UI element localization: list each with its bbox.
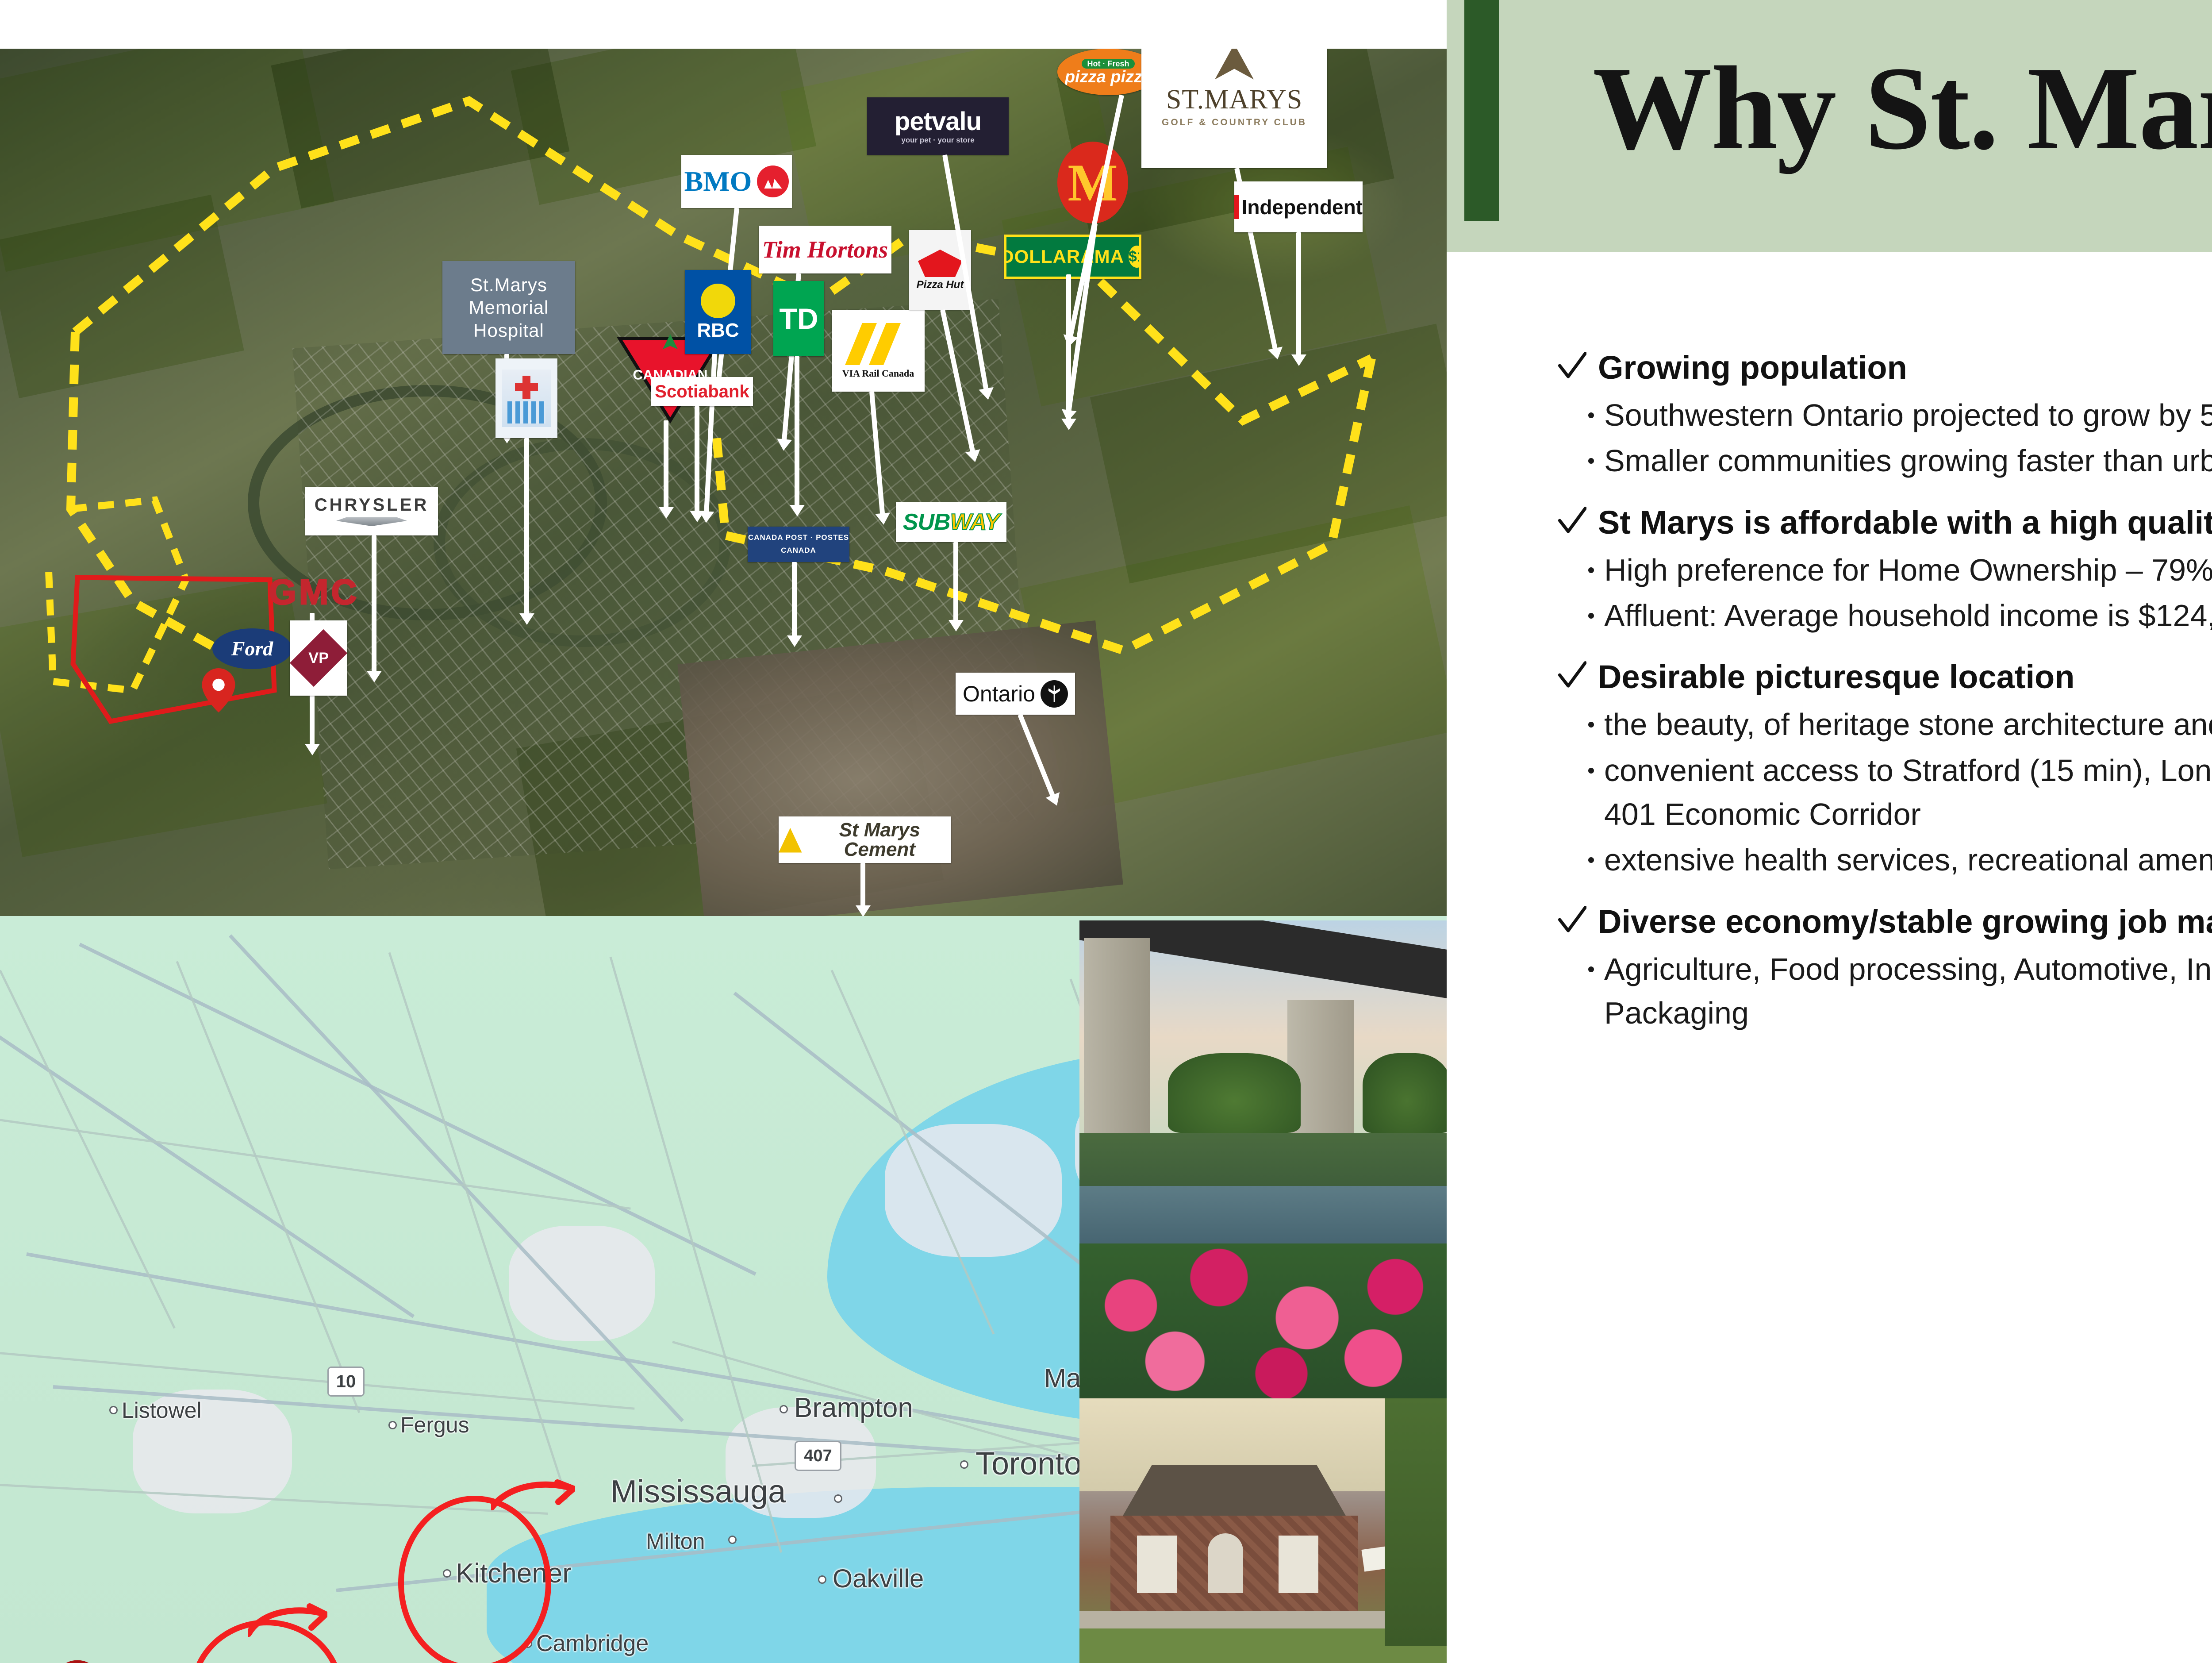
photo-strip xyxy=(1079,920,1447,1663)
section-bullets: the beauty, of heritage stone architectu… xyxy=(1583,703,2212,882)
gmc-wordmark: GMC xyxy=(269,574,360,610)
title-accent-bar xyxy=(1464,0,1499,221)
section-heading: St Marys is affordable with a high quali… xyxy=(1557,504,2212,541)
section-heading-text: Growing population xyxy=(1598,350,1907,386)
list-item: Smaller communities growing faster than … xyxy=(1583,439,2212,483)
list-item: convenient access to Stratford (15 min),… xyxy=(1583,749,2212,837)
list-item: the beauty, of heritage stone architectu… xyxy=(1583,703,2212,747)
via-rail-wordmark: VIA Rail Canada xyxy=(842,369,914,378)
presentation-slide: St.Marys Memorial Hospital CANADIAN TIRE xyxy=(0,0,2212,1663)
section-heading: Growing population xyxy=(1557,350,2212,386)
logo-subway: SUBWAY xyxy=(896,502,1006,542)
section-heading-text: Diverse economy/stable growing job marke… xyxy=(1598,904,2212,940)
logo-td: TD xyxy=(773,281,824,356)
page-title: Why St. Marys? xyxy=(1593,40,2212,177)
logo-hospital-icon xyxy=(495,358,557,438)
place-label-listowel: Listowel xyxy=(122,1397,202,1423)
photo-thames-river-with-flowers xyxy=(1079,1133,1447,1398)
bullet-content: Growing population Southwestern Ontario … xyxy=(1557,350,2212,1056)
section-heading: Desirable picturesque location xyxy=(1557,659,2212,696)
list-item: High preference for Home Ownership – 79%… xyxy=(1583,548,2212,592)
section-heading-text: St Marys is affordable with a high quali… xyxy=(1598,504,2212,541)
logo-tim-hortons: Tim Hortons xyxy=(759,226,891,273)
canada-post-wordmark: CANADA POST · POSTES CANADA xyxy=(748,531,849,557)
logo-bmo: BMO xyxy=(681,155,792,208)
logo-canada-post: CANADA POST · POSTES CANADA xyxy=(748,527,849,562)
logo-chrysler: CHRYSLER xyxy=(305,487,438,535)
parcel-location-pin xyxy=(201,668,236,715)
highlight-arrow-kitchener xyxy=(491,1479,575,1528)
photo-stone-railway-trestle-bridge xyxy=(1079,920,1447,1133)
logo-independent-grocer: Independent xyxy=(1234,181,1363,232)
left-imagery-column: St.Marys Memorial Hospital CANADIAN TIRE xyxy=(0,0,1447,1663)
checkmark-icon xyxy=(1557,350,1586,383)
place-label-brampton: Brampton xyxy=(794,1392,913,1424)
tim-hortons-wordmark: Tim Hortons xyxy=(762,238,888,262)
logo-via-rail: VIA Rail Canada xyxy=(832,310,925,392)
place-label-milton: Milton xyxy=(646,1528,705,1554)
logo-scotiabank: Scotiabank xyxy=(651,377,753,406)
list-item: Southwestern Ontario projected to grow b… xyxy=(1583,393,2212,437)
checkmark-icon xyxy=(1557,660,1586,693)
place-label-mississauga: Mississauga xyxy=(611,1474,786,1510)
ford-wordmark: Ford xyxy=(231,639,273,659)
section-growing-population: Growing population Southwestern Ontario … xyxy=(1557,350,2212,483)
section-desirable-location: Desirable picturesque location the beaut… xyxy=(1557,659,2212,882)
section-bullets: Southwestern Ontario projected to grow b… xyxy=(1583,393,2212,483)
scotiabank-wordmark: Scotiabank xyxy=(655,383,749,400)
section-heading-text: Desirable picturesque location xyxy=(1598,659,2074,696)
list-item: extensive health services, recreational … xyxy=(1583,838,2212,882)
logo-gmc: GMC xyxy=(259,571,369,613)
place-label-cambridge: Cambridge xyxy=(536,1630,649,1657)
place-dot-oakville xyxy=(818,1575,826,1584)
dollarama-wordmark: DOLLARAMA xyxy=(1004,247,1124,266)
place-dot-fergus xyxy=(388,1421,397,1429)
section-diverse-economy: Diverse economy/stable growing job marke… xyxy=(1557,904,2212,1036)
pizza-pizza-tagline: Hot · Fresh xyxy=(1082,59,1134,69)
pet-valu-wordmark: petvalu xyxy=(895,109,981,135)
pizza-pizza-wordmark: pizza pizza xyxy=(1065,69,1152,85)
logo-st-marys-memorial-hospital: St.Marys Memorial Hospital xyxy=(442,261,575,354)
place-dot-brampton xyxy=(780,1405,788,1413)
golf-club-wordmark: ST.MARYS xyxy=(1166,86,1302,113)
ontario-wordmark: Ontario xyxy=(963,683,1035,705)
list-item: Affluent: Average household income is $1… xyxy=(1583,594,2212,638)
logo-rbc: RBC xyxy=(685,270,751,354)
td-wordmark: TD xyxy=(780,304,818,333)
highway-shield-10: 10 xyxy=(327,1367,365,1397)
pizza-hut-wordmark: Pizza Hut xyxy=(917,280,964,290)
logo-mcdonalds: M xyxy=(1057,142,1128,223)
mcdonalds-arches: M xyxy=(1068,156,1118,209)
st-marys-map-pin xyxy=(53,1659,102,1663)
photo-st-marys-heritage-train-station xyxy=(1079,1398,1447,1663)
checkmark-icon xyxy=(1557,905,1586,937)
section-bullets: Agriculture, Food processing, Automotive… xyxy=(1583,947,2212,1036)
right-content-column: Why St. Marys? PAGE 17 Growing populatio… xyxy=(1447,0,2212,1663)
logo-st-marys-golf-country-club: EST. 1931 ST.MARYS GOLF & COUNTRY CLUB xyxy=(1141,49,1327,168)
aerial-satellite-map: St.Marys Memorial Hospital CANADIAN TIRE xyxy=(0,49,1447,916)
pet-valu-tagline: your pet · your store xyxy=(901,136,974,144)
logo-ontario: Ontario xyxy=(956,673,1075,715)
logo-ford: Ford xyxy=(212,628,292,669)
chrysler-wordmark: CHRYSLER xyxy=(315,496,429,514)
highlight-arrow-stratford xyxy=(248,1603,327,1651)
place-label-oakville: Oakville xyxy=(833,1564,924,1594)
place-dot-milton xyxy=(728,1536,737,1544)
logo-st-marys-cement: St Marys Cement xyxy=(779,816,951,863)
section-affordable-quality-of-life: St Marys is affordable with a high quali… xyxy=(1557,504,2212,638)
bmo-wordmark: BMO xyxy=(684,167,752,196)
logo-dollarama: DOLLARAMA $1 xyxy=(1004,235,1141,279)
section-bullets: High preference for Home Ownership – 79%… xyxy=(1583,548,2212,638)
rbc-wordmark: RBC xyxy=(697,321,739,340)
place-dot-listowel xyxy=(109,1406,118,1414)
place-dot-mississauga xyxy=(834,1494,842,1503)
independent-wordmark: Independent xyxy=(1242,197,1363,217)
place-label-fergus: Fergus xyxy=(400,1412,469,1438)
vp-wordmark: VP xyxy=(308,651,329,666)
highway-shield-407: 407 xyxy=(795,1441,841,1471)
list-item: Agriculture, Food processing, Automotive… xyxy=(1583,947,2212,1036)
place-label-toronto: Toronto xyxy=(975,1446,1082,1482)
golf-club-sub: GOLF & COUNTRY CLUB xyxy=(1162,118,1307,127)
checkmark-icon xyxy=(1557,505,1586,538)
place-dot-toronto xyxy=(960,1460,968,1469)
logo-vp-veterinary: VP xyxy=(290,620,347,696)
hospital-sign-text: St.Marys Memorial Hospital xyxy=(442,273,575,342)
logo-pet-valu: petvalu your pet · your store xyxy=(867,97,1009,155)
st-marys-cement-wordmark: St Marys Cement xyxy=(808,820,951,859)
section-heading: Diverse economy/stable growing job marke… xyxy=(1557,904,2212,940)
